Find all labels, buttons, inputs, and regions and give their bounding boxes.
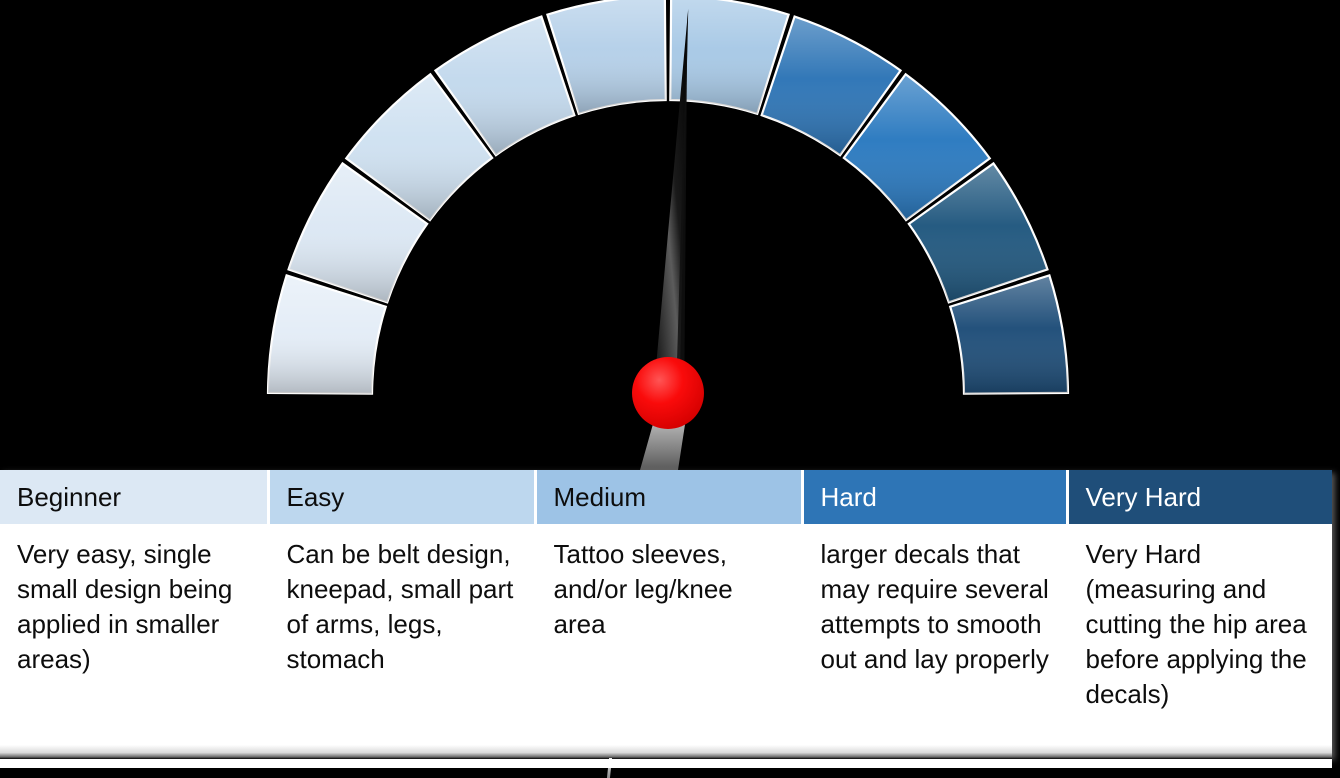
cell-description-medium: Tattoo sleeves, and/or leg/knee area xyxy=(535,526,802,769)
cell-description-beginner: Very easy, single small design being app… xyxy=(0,526,268,769)
column-header-easy[interactable]: Easy xyxy=(268,470,535,526)
table-header-row: Beginner Easy Medium Hard Very Hard xyxy=(0,470,1332,526)
slide-edge-tick xyxy=(607,758,612,778)
column-header-medium[interactable]: Medium xyxy=(535,470,802,526)
difficulty-table-container: Beginner Easy Medium Hard Very Hard Very… xyxy=(0,470,1332,757)
table-bottom-shadow xyxy=(0,745,1332,759)
slide-canvas: Beginner Easy Medium Hard Very Hard Very… xyxy=(0,0,1340,778)
gauge-chart xyxy=(0,0,1340,470)
gauge-hub xyxy=(632,357,704,429)
cell-description-easy: Can be belt design, kneepad, small part … xyxy=(268,526,535,769)
table-row: Very easy, single small design being app… xyxy=(0,526,1332,769)
gauge-svg xyxy=(0,0,1340,470)
column-header-hard[interactable]: Hard xyxy=(802,470,1067,526)
column-header-beginner[interactable]: Beginner xyxy=(0,470,268,526)
column-header-very-hard[interactable]: Very Hard xyxy=(1067,470,1332,526)
cell-description-hard: larger decals that may require several a… xyxy=(802,526,1067,769)
cell-description-very-hard: Very Hard (measuring and cutting the hip… xyxy=(1067,526,1332,769)
difficulty-levels-table: Beginner Easy Medium Hard Very Hard Very… xyxy=(0,470,1332,768)
